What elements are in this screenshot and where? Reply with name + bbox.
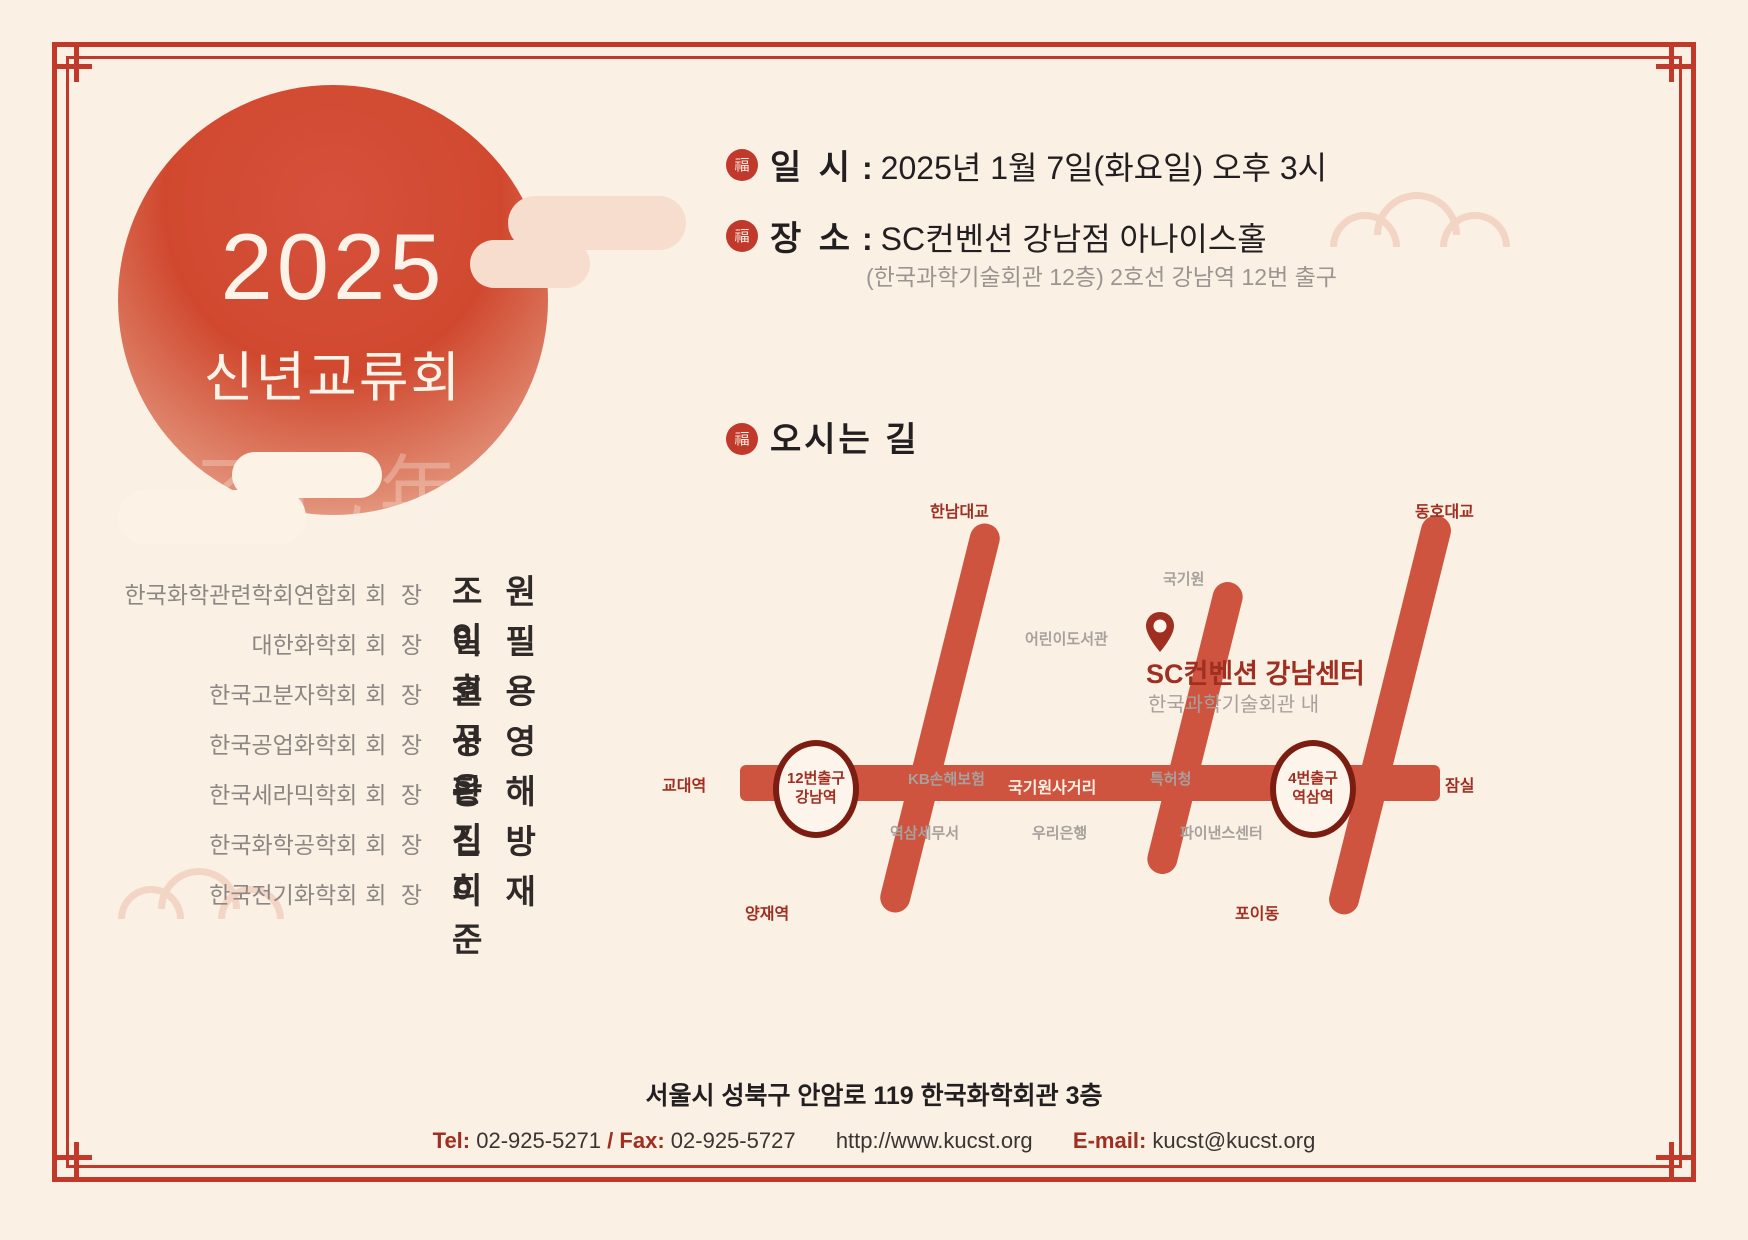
org-name: 한국세라믹학회 [209,776,357,810]
list-item: 한국세라믹학회 회 장 황 해 진 [120,765,580,815]
footer-slash: / [607,1128,613,1153]
org-name: 한국공업화학회 [209,726,357,760]
event-info-block: 福 일 시 : 2025년 1월 7일(화요일) 오후 3시 福 장 소 : S… [726,140,1506,298]
map-landmark-library: 어린이도서관 [1025,628,1108,649]
org-name: 한국고분자학회 [209,676,357,710]
footer-tel-value: 02-925-5271 [476,1128,601,1153]
hero-title: 신년교류회 [118,333,548,412]
map-landmark-finance: 파이낸스센터 [1180,822,1263,843]
directions-title: 오시는 길 [770,412,920,461]
location-map: 한남대교 동호대교 양재역 포이동 교대역 잠실 국기원 어린이도서관 KB손해… [640,480,1520,930]
map-landmark-kukkiwon: 국기원 [1163,568,1204,589]
footer: 서울시 성북구 안암로 119 한국화학회관 3층 Tel: 02-925-52… [0,1076,1748,1154]
map-endpoint-yangjaeyeok: 양재역 [745,900,789,924]
map-landmark-wooribank: 우리은행 [1032,822,1087,843]
date-colon: : [862,150,873,187]
list-item: 한국화학관련학회연합회 회 장 조 원 일 [120,565,580,615]
list-item: 한국전기화학회 회 장 이 재 준 [120,865,580,915]
map-endpoint-hannamdaegyo: 한남대교 [930,498,989,522]
event-date-row: 福 일 시 : 2025년 1월 7일(화요일) 오후 3시 [726,140,1506,189]
org-name: 한국화학관련학회연합회 [125,576,358,610]
directions-heading: 福 오시는 길 [726,412,920,461]
hero-sun-circle: 乙巳年 2025 신년교류회 [118,85,548,515]
cloud-decor-2 [470,240,590,288]
footer-contact-line: Tel: 02-925-5271 / Fax: 02-925-5727 http… [0,1128,1748,1154]
bok-seal-icon: 福 [726,149,758,181]
map-station-gangnam: 12번출구 강남역 [773,740,859,838]
venue-label: 장 소 [770,211,854,260]
date-value: 2025년 1월 7일(화요일) 오후 3시 [881,143,1327,189]
presidents-list: 한국화학관련학회연합회 회 장 조 원 일 대한화학회 회 장 이 필 호 한국… [120,565,580,915]
org-position: 회 장 [365,626,426,660]
list-item: 한국공업화학회 회 장 성 영 은 [120,715,580,765]
map-station-yeoksam: 4번출구 역삼역 [1270,740,1356,838]
org-position: 회 장 [365,876,426,910]
footer-fax-value: 02-925-5727 [671,1128,796,1153]
road-dongho-poidong [1326,512,1454,917]
footer-email-link[interactable]: kucst@kucst.org [1152,1128,1315,1153]
org-name: 대한화학회 [251,626,357,660]
map-venue-sub: 한국과학기술회관 내 [1148,688,1319,717]
map-endpoint-poidong: 포이동 [1235,900,1279,924]
org-name: 한국전기화학회 [209,876,357,910]
map-endpoint-gyodaeyeok: 교대역 [662,772,706,796]
station-exit: 12번출구 [787,770,845,789]
org-position: 회 장 [365,826,426,860]
venue-sub-text: (한국과학기술회관 12층) 2호선 강남역 12번 출구 [866,258,1506,292]
station-name: 강남역 [795,789,836,808]
list-item: 한국고분자학회 회 장 권 용 구 [120,665,580,715]
station-exit: 4번출구 [1288,770,1338,789]
road-hannam-yangjae [877,520,1003,915]
corner-ornament-top-left [52,42,108,98]
map-endpoint-jamsil: 잠실 [1445,772,1474,796]
footer-email-label: E-mail: [1073,1128,1146,1153]
org-position: 회 장 [365,576,426,610]
map-endpoint-donghodaegyo: 동호대교 [1415,498,1474,522]
org-name: 한국화학공학회 [209,826,357,860]
footer-address: 서울시 성북구 안암로 119 한국화학회관 3층 [0,1076,1748,1112]
footer-website-link[interactable]: http://www.kucst.org [836,1128,1033,1153]
map-landmark-taxoffice: 역삼세무서 [890,822,959,843]
map-pin-icon [1145,612,1175,652]
bok-seal-icon-3: 福 [726,423,758,455]
bok-seal-icon-2: 福 [726,220,758,252]
venue-colon: : [862,221,873,258]
map-road-name: 국기원사거리 [1008,774,1096,798]
footer-fax-label: Fax: [619,1128,664,1153]
cloud-decor-4 [118,490,306,544]
map-venue-name: SC컨벤션 강남센터 [1146,652,1365,691]
venue-value: SC컨벤션 강남점 아나이스홀 [881,214,1267,260]
org-position: 회 장 [365,726,426,760]
person-name: 이 재 준 [452,865,580,961]
org-position: 회 장 [365,776,426,810]
station-name: 역삼역 [1292,789,1333,808]
corner-ornament-top-right [1640,42,1696,98]
list-item: 대한화학회 회 장 이 필 호 [120,615,580,665]
footer-tel-label: Tel: [433,1128,470,1153]
list-item: 한국화학공학회 회 장 김 방 희 [120,815,580,865]
poster-canvas: 乙巳年 2025 신년교류회 福 일 시 : 2025년 1월 7일(화요일) … [0,0,1748,1240]
org-position: 회 장 [365,676,426,710]
map-landmark-kipo: 특허청 [1150,768,1191,789]
date-label: 일 시 [770,140,854,189]
map-landmark-kb: KB손해보험 [908,768,985,789]
event-venue-row: 福 장 소 : SC컨벤션 강남점 아나이스홀 [726,211,1506,260]
